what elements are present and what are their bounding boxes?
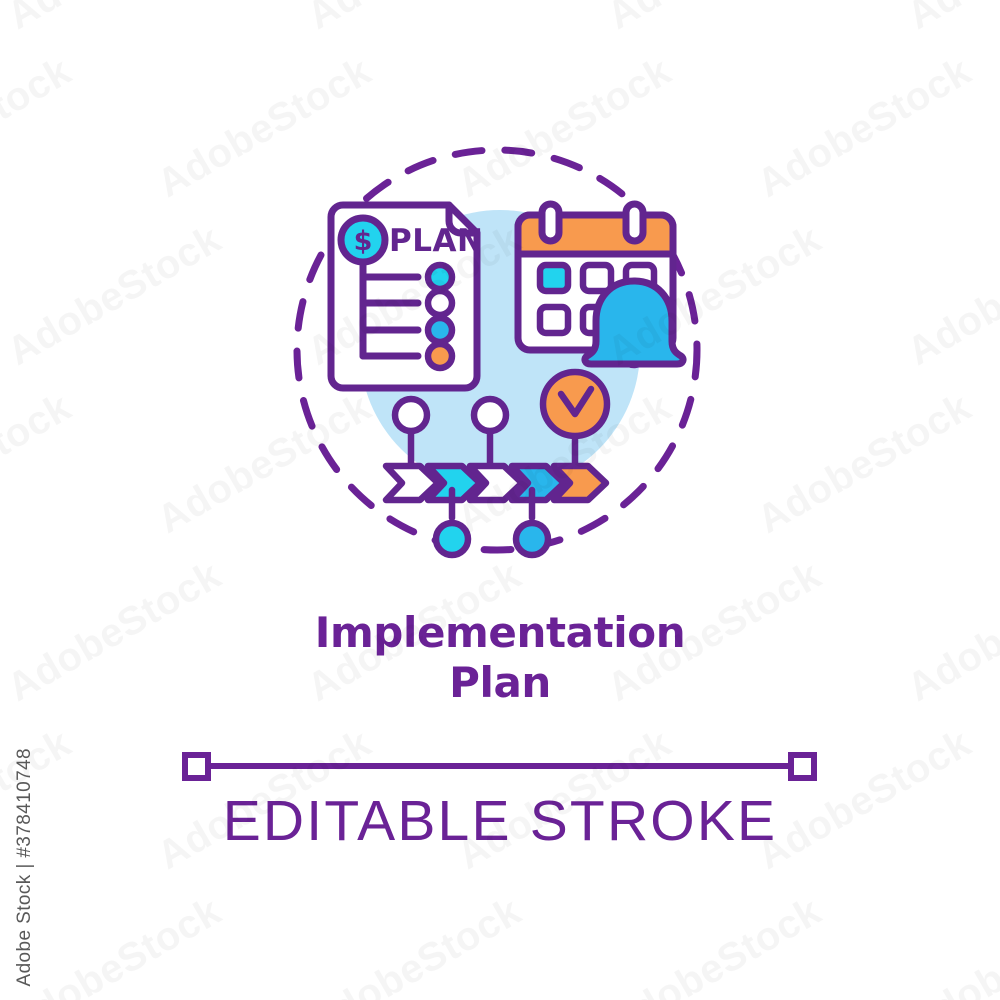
concept-title: Implementation Plan <box>0 608 1000 707</box>
timeline-marker <box>395 399 427 431</box>
timeline-marker <box>436 523 468 555</box>
illustration-canvas: $ PLAN <box>0 0 1000 1000</box>
list-bullet <box>428 344 452 368</box>
calendar-cell <box>540 307 568 333</box>
chevron-timeline <box>386 466 606 500</box>
plan-document-icon: $ PLAN <box>331 205 483 388</box>
timeline-marker <box>474 399 506 431</box>
timeline-marker <box>516 523 548 555</box>
editable-stroke-label: EDITABLE STROKE <box>0 788 1000 854</box>
title-line-1: Implementation <box>0 608 1000 658</box>
title-line-2: Plan <box>0 658 1000 708</box>
list-bullet <box>428 291 452 315</box>
dollar-symbol: $ <box>354 226 373 257</box>
calendar-ring <box>542 204 559 241</box>
stroke-handle-right[interactable] <box>791 755 814 778</box>
calendar-ring <box>626 204 643 241</box>
list-bullet <box>428 265 452 289</box>
stock-id-watermark: Adobe Stock | #378410748 <box>14 748 36 987</box>
calendar-cell <box>540 265 568 291</box>
editable-stroke-bar <box>185 755 814 778</box>
document-label: PLAN <box>389 223 483 259</box>
check-badge-circle <box>543 372 607 436</box>
list-bullet <box>428 318 452 342</box>
stroke-handle-left[interactable] <box>185 755 208 778</box>
